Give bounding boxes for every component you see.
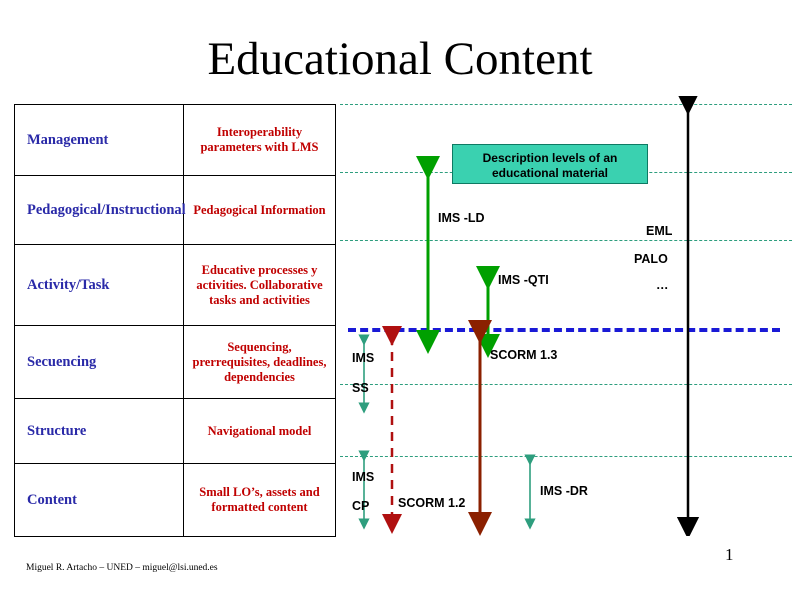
label-ims-ld: IMS -LD bbox=[438, 211, 485, 225]
label-ims-cp-line1: IMS bbox=[352, 470, 374, 484]
row-description: Interoperability parameters with LMS bbox=[184, 105, 336, 176]
row-label: Content bbox=[15, 464, 184, 537]
table-row: Structure Navigational model bbox=[15, 399, 336, 464]
label-scorm-13: SCORM 1.3 bbox=[490, 348, 557, 362]
row-label: Secuencing bbox=[15, 326, 184, 399]
table-row: Content Small LO’s, assets and formatted… bbox=[15, 464, 336, 537]
slide: Educational Content Management Interoper… bbox=[0, 0, 800, 600]
label-scorm-12: SCORM 1.2 bbox=[398, 496, 465, 510]
page-number: 1 bbox=[725, 545, 734, 565]
table-row: Pedagogical/Instructional Pedagogical In… bbox=[15, 176, 336, 245]
label-ims-dr: IMS -DR bbox=[540, 484, 588, 498]
row-label: Management bbox=[15, 105, 184, 176]
description-levels-table: Management Interoperability parameters w… bbox=[14, 104, 336, 537]
row-description: Educative processes y activities. Collab… bbox=[184, 245, 336, 326]
label-ims-qti: IMS -QTI bbox=[498, 273, 549, 287]
label-palo: PALO bbox=[634, 252, 668, 266]
label-ims-cp-line2: CP bbox=[352, 499, 369, 513]
diagram-area: Description levels of an educational mat… bbox=[340, 96, 792, 536]
label-ellipsis: … bbox=[656, 278, 669, 292]
label-ims-ss-line1: IMS bbox=[352, 351, 374, 365]
row-label: Activity/Task bbox=[15, 245, 184, 326]
row-label: Pedagogical/Instructional bbox=[15, 176, 184, 245]
table-row: Activity/Task Educative processes y acti… bbox=[15, 245, 336, 326]
footer-credit: Miguel R. Artacho – UNED – miguel@lsi.un… bbox=[26, 563, 218, 573]
row-description: Small LO’s, assets and formatted content bbox=[184, 464, 336, 537]
label-ims-ss-line2: SS bbox=[352, 381, 369, 395]
page-title: Educational Content bbox=[0, 32, 800, 86]
table-row: Secuencing Sequencing, prerrequisites, d… bbox=[15, 326, 336, 399]
row-label: Structure bbox=[15, 399, 184, 464]
label-eml: EML bbox=[646, 224, 672, 238]
row-description: Navigational model bbox=[184, 399, 336, 464]
table-row: Management Interoperability parameters w… bbox=[15, 105, 336, 176]
row-description: Pedagogical Information bbox=[184, 176, 336, 245]
arrow-layer bbox=[340, 96, 792, 536]
row-description: Sequencing, prerrequisites, deadlines, d… bbox=[184, 326, 336, 399]
